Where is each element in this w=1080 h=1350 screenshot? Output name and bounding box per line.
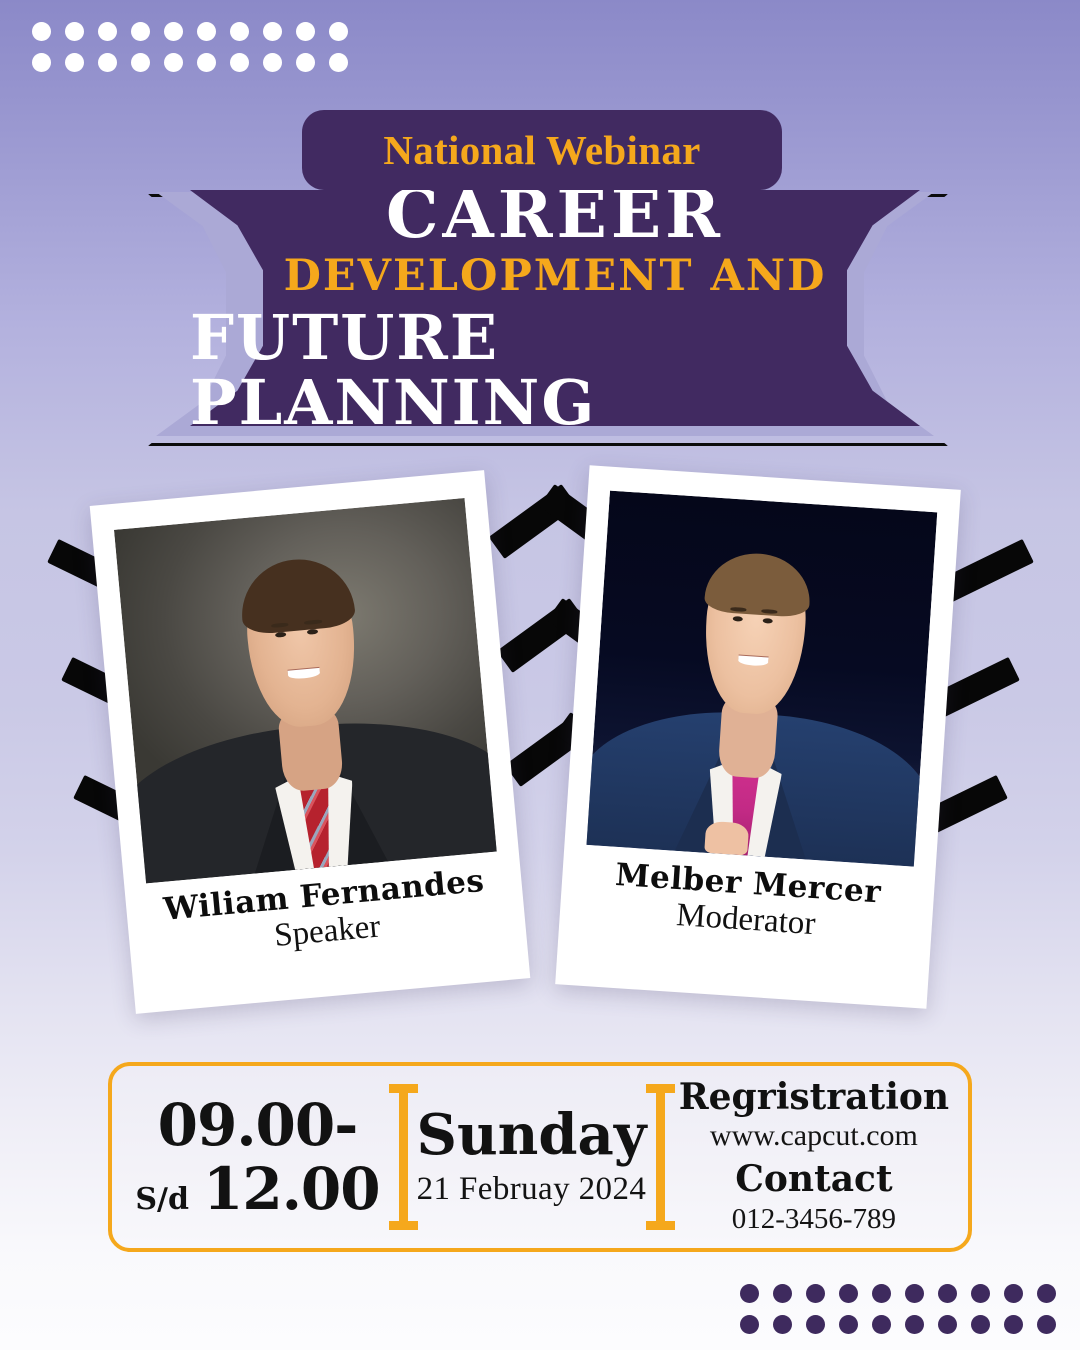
title-line-3: FUTURE PLANNING <box>190 305 920 435</box>
poster-canvas: National Webinar CAREER DEVELOPMENT AND … <box>0 0 1080 1350</box>
dot <box>806 1284 825 1303</box>
dot <box>872 1284 891 1303</box>
hand <box>704 821 749 856</box>
dot <box>131 22 150 41</box>
dot-grid-bottom-right <box>740 1284 1056 1334</box>
dot <box>296 53 315 72</box>
hair <box>237 555 356 636</box>
dot <box>164 53 183 72</box>
dot <box>197 53 216 72</box>
registration-block: Regristration www.capcut.com Contact 012… <box>660 1066 968 1248</box>
dot <box>740 1284 759 1303</box>
speaker-card-2: Melber Mercer Moderator <box>555 465 961 1009</box>
dot <box>32 53 51 72</box>
dot <box>1037 1315 1056 1334</box>
contact-phone[interactable]: 012-3456-789 <box>732 1202 896 1237</box>
title-line-2: DEVELOPMENT AND <box>284 247 827 305</box>
dot <box>938 1284 957 1303</box>
dot <box>32 22 51 41</box>
speaker-photo-1 <box>114 498 497 883</box>
contact-label: Contact <box>735 1159 892 1200</box>
dot <box>65 53 84 72</box>
dot <box>230 53 249 72</box>
dot <box>872 1315 891 1334</box>
dot <box>329 22 348 41</box>
dot <box>230 22 249 41</box>
dot <box>164 22 183 41</box>
dot-grid-top-left <box>32 22 348 72</box>
time-end: 12.00 <box>203 1160 380 1218</box>
dot <box>971 1315 990 1334</box>
kicker-label: National Webinar <box>383 126 700 174</box>
dot <box>1004 1315 1023 1334</box>
date-block: Sunday 21 Februay 2024 <box>403 1066 660 1248</box>
dot <box>1004 1284 1023 1303</box>
dot <box>263 22 282 41</box>
time-separator-label: S/d <box>135 1182 189 1217</box>
dot <box>773 1315 792 1334</box>
dot <box>65 22 84 41</box>
dot <box>131 53 150 72</box>
dot <box>905 1315 924 1334</box>
dot <box>839 1284 858 1303</box>
title-banner: CAREER DEVELOPMENT AND FUTURE PLANNING <box>150 190 940 440</box>
dot <box>1037 1284 1056 1303</box>
dot <box>98 22 117 41</box>
time-end-row: S/d 12.00 <box>135 1160 379 1218</box>
dot <box>839 1315 858 1334</box>
time-block: 09.00- S/d 12.00 <box>112 1066 403 1248</box>
speaker-card-1: Wiliam Fernandes Speaker <box>90 470 531 1014</box>
dot <box>773 1284 792 1303</box>
speaker-photo-2 <box>586 491 937 867</box>
portrait-figure <box>114 498 497 883</box>
dot <box>263 53 282 72</box>
speaker-caption-1: Wiliam Fernandes Speaker <box>147 863 504 964</box>
registration-label: Regristration <box>679 1078 949 1118</box>
event-info-bar: 09.00- S/d 12.00 Sunday 21 Februay 2024 … <box>108 1062 972 1252</box>
registration-url[interactable]: www.capcut.com <box>710 1118 918 1154</box>
dot <box>740 1315 759 1334</box>
hair <box>704 551 813 618</box>
title-text-group: CAREER DEVELOPMENT AND FUTURE PLANNING <box>190 190 920 426</box>
dot <box>197 22 216 41</box>
dot <box>98 53 117 72</box>
dot <box>938 1315 957 1334</box>
kicker-badge: National Webinar <box>302 110 782 190</box>
event-day: Sunday <box>417 1106 647 1165</box>
time-start: 09.00- <box>158 1096 358 1154</box>
dot <box>296 22 315 41</box>
speaker-caption-2: Melber Mercer Moderator <box>581 857 913 948</box>
dot <box>329 53 348 72</box>
dot <box>905 1284 924 1303</box>
portrait-figure <box>586 491 937 867</box>
event-date: 21 Februay 2024 <box>417 1171 647 1208</box>
dot <box>806 1315 825 1334</box>
dot <box>971 1284 990 1303</box>
title-line-1: CAREER <box>386 181 724 247</box>
